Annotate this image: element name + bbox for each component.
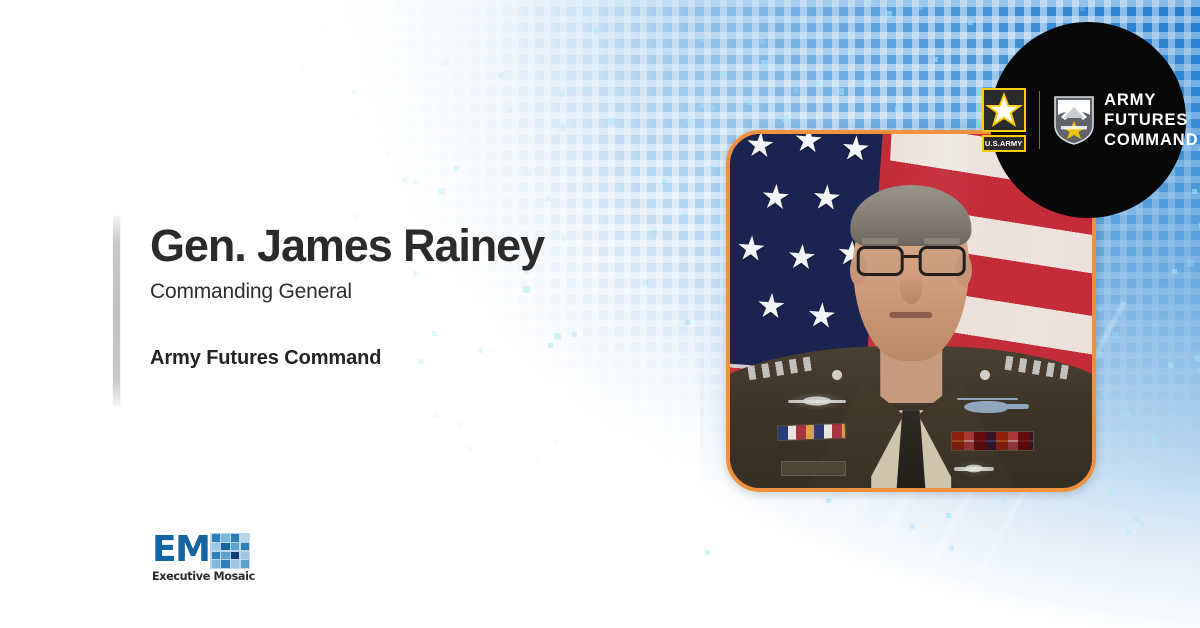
person-role: Commanding General [150, 280, 710, 304]
name-tape [781, 461, 846, 475]
person-info-block: Gen. James Rainey Commanding General Arm… [150, 222, 710, 370]
mouth [889, 312, 932, 318]
em-mosaic-tile [221, 560, 229, 567]
em-mosaic-tile [221, 534, 229, 541]
em-mosaic-tile [212, 543, 220, 550]
em-mosaic-tile [212, 560, 220, 567]
aviator-badge [788, 392, 846, 410]
em-mosaic-tile [221, 552, 229, 559]
afc-shield-icon [1053, 95, 1095, 145]
em-mosaic-tile [241, 543, 249, 550]
afc-wordmark-line-2: FUTURES [1104, 110, 1198, 130]
collar-insignia-right [976, 368, 994, 382]
rotor-body [964, 401, 1008, 413]
collar-insignia-left [828, 368, 846, 382]
page-title: Gen. James Rainey [150, 222, 710, 271]
em-monogram: EM [152, 533, 209, 567]
em-mosaic-tile [241, 534, 249, 541]
em-mosaic-tile [241, 552, 249, 559]
em-mosaic-icon [210, 533, 250, 569]
us-army-logo: U.S.ARMY [982, 88, 1026, 152]
lens-right [919, 246, 966, 276]
afc-wordmark-line-3: COMMAND [1104, 130, 1198, 150]
eyebrow-right [924, 238, 960, 244]
em-mosaic-tile [212, 534, 220, 541]
em-mosaic-tile [241, 560, 249, 567]
promo-card: Gen. James Rainey Commanding General Arm… [0, 0, 1200, 628]
em-mosaic-tile [231, 534, 239, 541]
afc-wordmark-line-1: ARMY [1104, 90, 1198, 110]
army-futures-command-badge: U.S.ARMY ARMY FUTURES COMMAND [990, 22, 1186, 218]
background-bottom-fade [0, 328, 700, 628]
rotor-tail [1002, 404, 1029, 409]
nose [900, 272, 922, 304]
em-mosaic-tile [221, 543, 229, 550]
unit-award-ribbon [777, 423, 846, 441]
em-mosaic-tile [212, 552, 220, 559]
em-mosaic-tile [231, 543, 239, 550]
executive-mosaic-logo[interactable]: EM Executive Mosaic [152, 533, 255, 583]
afc-wordmark: ARMY FUTURES COMMAND [1104, 90, 1198, 150]
aviation-badge [954, 394, 1030, 417]
organization-name: Army Futures Command [150, 347, 710, 370]
glasses-bridge [903, 255, 918, 258]
army-star-icon [982, 88, 1026, 132]
em-mosaic-tile [231, 552, 239, 559]
rotor [957, 398, 1018, 400]
ribbon-rack [951, 431, 1034, 450]
badge-divider [1039, 91, 1041, 149]
vertical-accent-bar [113, 216, 120, 406]
lens-left [857, 246, 904, 276]
us-army-wordmark: U.S.ARMY [982, 135, 1026, 152]
eyebrow-left [862, 238, 898, 244]
parachutist-badge [954, 460, 994, 478]
em-caption: Executive Mosaic [152, 570, 255, 583]
em-mosaic-tile [231, 560, 239, 567]
